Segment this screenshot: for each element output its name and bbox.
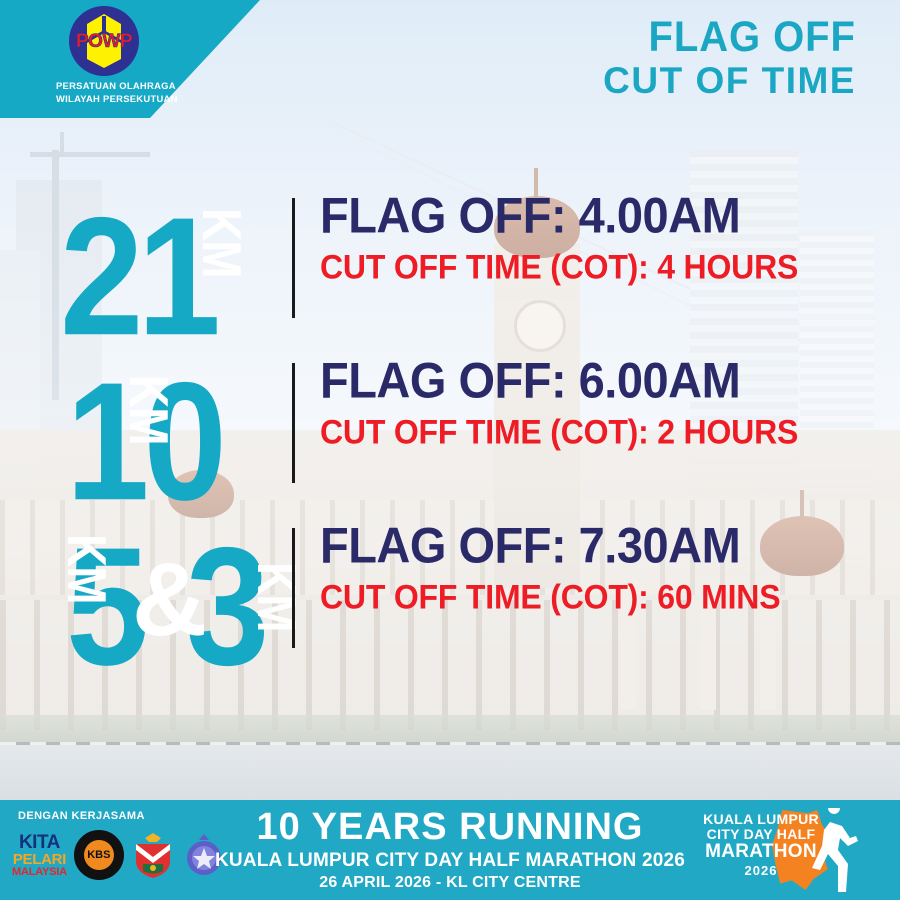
title-cut-of-time: CUT OF TIME — [603, 62, 856, 101]
distance-row-5km-3km: 5 3 & KM KM FLAG OFF: 7.30AM CUT OFF TIM… — [0, 520, 900, 685]
distance-row-5km-3km-text: FLAG OFF: 7.30AM CUT OFF TIME (COT): 60 … — [320, 520, 780, 614]
flag-off-time-10km: FLAG OFF: 6.00AM — [320, 355, 798, 406]
flag-off-time-5km-3km: FLAG OFF: 7.30AM — [320, 520, 780, 571]
event-logo-year: 2026 — [686, 864, 836, 878]
event-logo: KUALA LUMPUR CITY DAY HALF MARATHON 2026 — [686, 808, 886, 896]
page-title: FLAG OFF CUT OF TIME — [603, 16, 856, 101]
km-label-3: KM — [250, 562, 304, 632]
cut-off-time-10km: CUT OFF TIME (COT): 2 HOURS — [320, 415, 798, 451]
event-logo-line2: CITY DAY HALF — [686, 827, 836, 842]
row-divider — [292, 198, 295, 318]
distance-row-21km: 21 KM FLAG OFF: 4.00AM CUT OFF TIME (COT… — [0, 190, 900, 355]
km-label-10: KM — [122, 375, 176, 445]
km-label-5: KM — [60, 534, 114, 604]
distance-rows: 21 KM FLAG OFF: 4.00AM CUT OFF TIME (COT… — [0, 190, 900, 685]
powp-subtitle-line2: WILAYAH PERSEKUTUAN — [56, 93, 152, 106]
cut-off-time-21km: CUT OFF TIME (COT): 4 HOURS — [320, 250, 798, 286]
row-divider — [292, 363, 295, 483]
distance-row-10km-text: FLAG OFF: 6.00AM CUT OFF TIME (COT): 2 H… — [320, 355, 798, 449]
ampersand-separator: & — [132, 548, 207, 652]
flag-off-time-21km: FLAG OFF: 4.00AM — [320, 190, 798, 241]
cut-off-time-5km-3km: CUT OFF TIME (COT): 60 MINS — [320, 580, 780, 616]
distance-badge-10km: 10 KM — [60, 355, 295, 515]
distance-badge-21km: 21 KM — [60, 190, 295, 350]
distance-row-10km: 10 KM FLAG OFF: 6.00AM CUT OFF TIME (COT… — [0, 355, 900, 520]
powp-wordmark: POWP — [76, 32, 132, 51]
powp-subtitle: PERSATUAN OLAHRAGA WILAYAH PERSEKUTUAN — [56, 80, 152, 105]
event-logo-line3: MARATHON — [686, 842, 836, 863]
row-divider — [292, 528, 295, 648]
event-logo-text: KUALA LUMPUR CITY DAY HALF MARATHON 2026 — [686, 812, 836, 878]
powp-logo: POWP PERSATUAN OLAHRAGA WILAYAH PERSEKUT… — [56, 6, 152, 105]
distance-badge-5km-3km: 5 3 & KM KM — [60, 520, 295, 680]
distance-row-21km-text: FLAG OFF: 4.00AM CUT OFF TIME (COT): 4 H… — [320, 190, 798, 284]
powp-badge: POWP — [69, 6, 139, 76]
title-flag-off: FLAG OFF — [621, 16, 856, 59]
footer-bar: DENGAN KERJASAMA KITA PELARI MALAYSIA KB… — [0, 800, 900, 900]
km-label-21: KM — [195, 208, 249, 278]
poster: POWP PERSATUAN OLAHRAGA WILAYAH PERSEKUT… — [0, 0, 900, 900]
event-logo-line1: KUALA LUMPUR — [686, 812, 836, 827]
powp-subtitle-line1: PERSATUAN OLAHRAGA — [56, 80, 152, 93]
